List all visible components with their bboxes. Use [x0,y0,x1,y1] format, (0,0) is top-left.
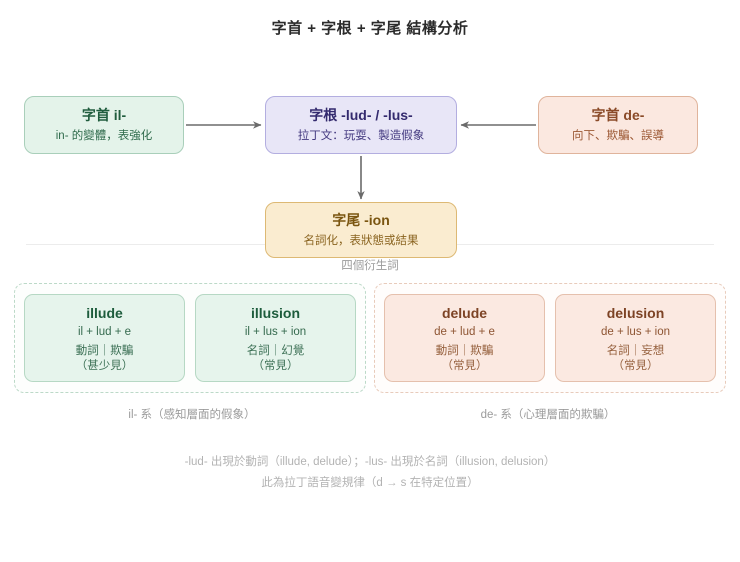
word-frequency: （甚少見） [29,359,180,373]
word-card-illude[interactable]: illude il + lud + e 動詞｜欺騙 （甚少見） [24,294,185,382]
prefix-de-title: 字首 de- [592,107,645,125]
footer-note-2: 此為拉丁語音變規律（d → s 在特定位置） [0,473,740,494]
word-frequency: （常見） [389,359,540,373]
word-card-illusion[interactable]: illusion il + lus + ion 名詞｜幻覺 （常見） [195,294,356,382]
group-de: delude de + lud + e 動詞｜欺騙 （常見） delusion … [374,283,726,393]
word-title: delude [389,304,540,322]
word-parts: de + lus + ion [560,325,711,341]
prefix-il-box[interactable]: 字首 il- in- 的變體，表強化 [24,96,184,154]
prefix-de-box[interactable]: 字首 de- 向下、欺騙、誤導 [538,96,698,154]
word-pos: 名詞｜妄想 [560,344,711,359]
morphology-area: 字首 il- in- 的變體，表強化 字根 -lud- / -lus- 拉丁文：… [0,50,740,230]
prefix-de-subtitle: 向下、欺騙、誤導 [572,129,664,143]
group-caption-de: de- 系（心理層面的欺騙） [370,406,726,422]
footer-notes: -lud- 出現於動詞（illude, delude）；-lus- 出現於名詞（… [0,452,740,495]
word-title: illude [29,304,180,322]
root-box[interactable]: 字根 -lud- / -lus- 拉丁文：玩耍、製造假象 [265,96,457,154]
prefix-il-subtitle: in- 的變體，表強化 [56,129,152,143]
group-il: illude il + lud + e 動詞｜欺騙 （甚少見） illusion… [14,283,366,393]
derived-section-label: 四個衍生詞 [0,257,740,273]
diagram-root: 字首 + 字根 + 字尾 結構分析 字首 il- in- 的變體，表強化 [0,0,740,495]
word-card-delude[interactable]: delude de + lud + e 動詞｜欺騙 （常見） [384,294,545,382]
word-card-delusion[interactable]: delusion de + lus + ion 名詞｜妄想 （常見） [555,294,716,382]
derived-groups: illude il + lud + e 動詞｜欺騙 （甚少見） illusion… [0,283,740,393]
word-parts: de + lud + e [389,325,540,341]
word-frequency: （常見） [200,359,351,373]
word-parts: il + lus + ion [200,325,351,341]
word-pos: 名詞｜幻覺 [200,344,351,359]
group-caption-il: il- 系（感知層面的假象） [14,406,370,422]
root-subtitle: 拉丁文：玩耍、製造假象 [298,129,425,143]
prefix-il-title: 字首 il- [82,107,126,125]
suffix-ion-title: 字尾 -ion [332,212,390,230]
word-pos: 動詞｜欺騙 [389,344,540,359]
word-title: illusion [200,304,351,322]
word-frequency: （常見） [560,359,711,373]
word-parts: il + lud + e [29,325,180,341]
group-captions: il- 系（感知層面的假象） de- 系（心理層面的欺騙） [0,406,740,422]
page-title: 字首 + 字根 + 字尾 結構分析 [0,0,740,38]
suffix-ion-subtitle: 名詞化，表狀態或結果 [304,234,419,248]
footer-note-1: -lud- 出現於動詞（illude, delude）；-lus- 出現於名詞（… [0,452,740,473]
root-title: 字根 -lud- / -lus- [309,107,412,125]
word-title: delusion [560,304,711,322]
word-pos: 動詞｜欺騙 [29,344,180,359]
suffix-ion-box[interactable]: 字尾 -ion 名詞化，表狀態或結果 [265,202,457,258]
